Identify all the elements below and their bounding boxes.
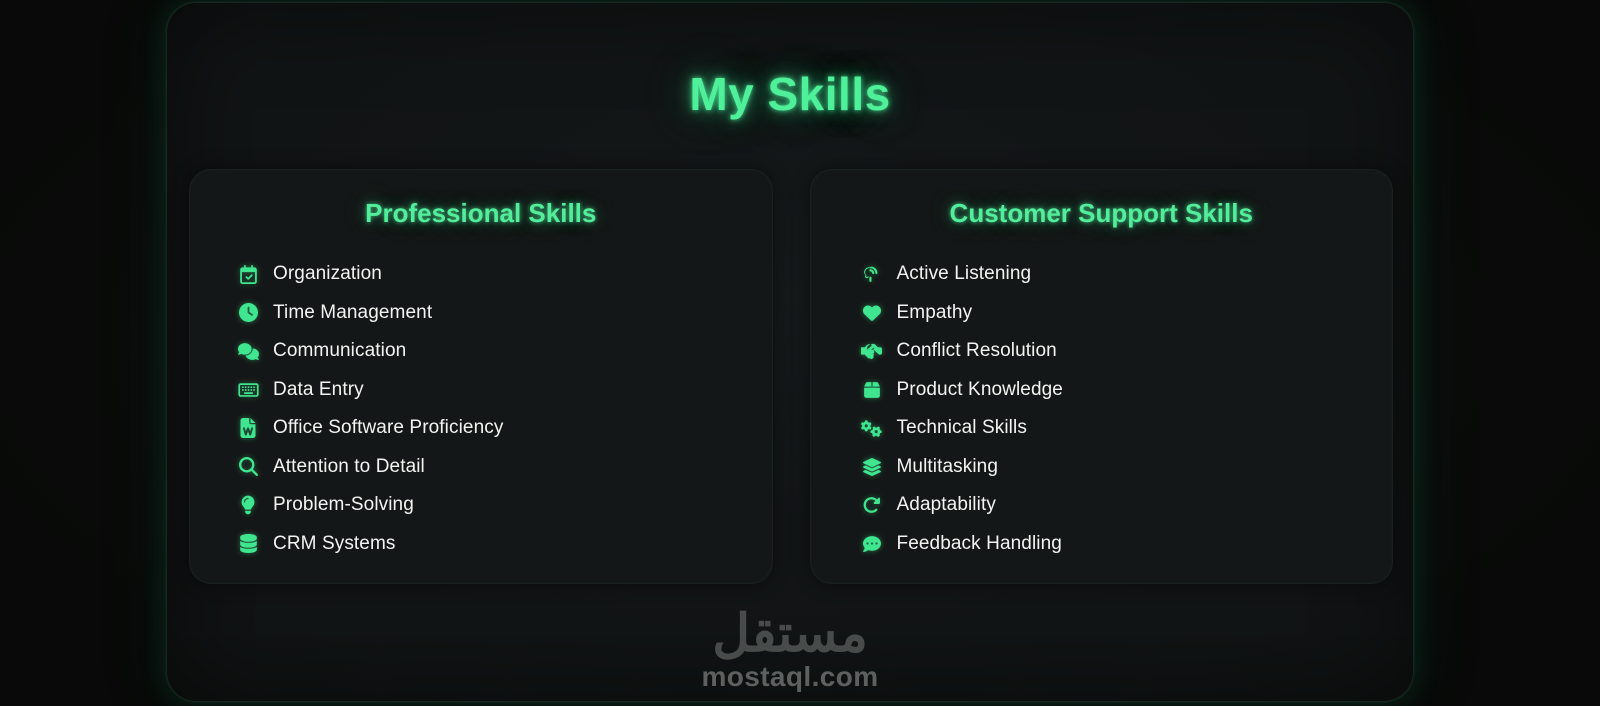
list-item[interactable]: Active Listening — [811, 255, 1393, 294]
box-package-icon — [859, 379, 885, 401]
watermark-latin: mostaql.com — [167, 661, 1413, 693]
handshake-icon — [859, 340, 885, 362]
customer-support-skills-title: Customer Support Skills — [811, 198, 1393, 229]
keyboard-icon — [235, 379, 261, 401]
speech-bubbles-icon — [235, 340, 261, 362]
list-item-label: Conflict Resolution — [897, 340, 1057, 362]
list-item[interactable]: Conflict Resolution — [811, 332, 1393, 371]
page-title: My Skills — [167, 67, 1413, 121]
list-item-label: CRM Systems — [273, 533, 396, 555]
list-item[interactable]: Data Entry — [190, 371, 772, 410]
list-item-label: Problem-Solving — [273, 494, 414, 516]
list-item-label: Active Listening — [897, 263, 1032, 285]
list-item[interactable]: Technical Skills — [811, 409, 1393, 448]
list-item-label: Data Entry — [273, 379, 364, 401]
list-item[interactable]: Communication — [190, 332, 772, 371]
list-item-label: Multitasking — [897, 456, 999, 478]
list-item-label: Adaptability — [897, 494, 996, 516]
customer-support-skills-list: Active Listening Empathy Conflict Resolu… — [811, 255, 1393, 563]
database-icon — [235, 533, 261, 555]
lightbulb-icon — [235, 494, 261, 516]
skills-panel: My Skills Professional Skills Organizati… — [166, 2, 1414, 702]
clock-icon — [235, 302, 261, 324]
calendar-check-icon — [235, 263, 261, 285]
list-item[interactable]: Feedback Handling — [811, 525, 1393, 564]
screenshot-root: My Skills Professional Skills Organizati… — [0, 0, 1600, 706]
professional-skills-title: Professional Skills — [190, 198, 772, 229]
list-item[interactable]: Multitasking — [811, 448, 1393, 487]
gears-icon — [859, 417, 885, 439]
skills-columns: Professional Skills Organization Time Ma… — [189, 169, 1393, 584]
list-item[interactable]: CRM Systems — [190, 525, 772, 564]
list-item[interactable]: Organization — [190, 255, 772, 294]
watermark-arabic: مستقل — [167, 610, 1413, 659]
list-item-label: Organization — [273, 263, 382, 285]
list-item-label: Office Software Proficiency — [273, 417, 503, 439]
list-item[interactable]: Time Management — [190, 294, 772, 333]
list-item[interactable]: Attention to Detail — [190, 448, 772, 487]
customer-support-skills-card: Customer Support Skills Active Listening… — [810, 169, 1394, 584]
professional-skills-list: Organization Time Management Communicati… — [190, 255, 772, 563]
ear-listen-icon — [859, 263, 885, 285]
list-item[interactable]: Adaptability — [811, 486, 1393, 525]
refresh-arrows-icon — [859, 494, 885, 516]
list-item-label: Time Management — [273, 302, 432, 324]
word-document-icon — [235, 417, 261, 439]
list-item-label: Product Knowledge — [897, 379, 1063, 401]
professional-skills-card: Professional Skills Organization Time Ma… — [189, 169, 773, 584]
list-item-label: Technical Skills — [897, 417, 1027, 439]
watermark: مستقل mostaql.com — [167, 610, 1413, 693]
list-item[interactable]: Empathy — [811, 294, 1393, 333]
magnifying-glass-icon — [235, 456, 261, 478]
list-item[interactable]: Product Knowledge — [811, 371, 1393, 410]
list-item-label: Empathy — [897, 302, 973, 324]
list-item[interactable]: Problem-Solving — [190, 486, 772, 525]
list-item-label: Attention to Detail — [273, 456, 425, 478]
list-item-label: Communication — [273, 340, 406, 362]
comment-dots-icon — [859, 533, 885, 555]
heart-icon — [859, 302, 885, 324]
list-item-label: Feedback Handling — [897, 533, 1062, 555]
layers-stack-icon — [859, 456, 885, 478]
list-item[interactable]: Office Software Proficiency — [190, 409, 772, 448]
